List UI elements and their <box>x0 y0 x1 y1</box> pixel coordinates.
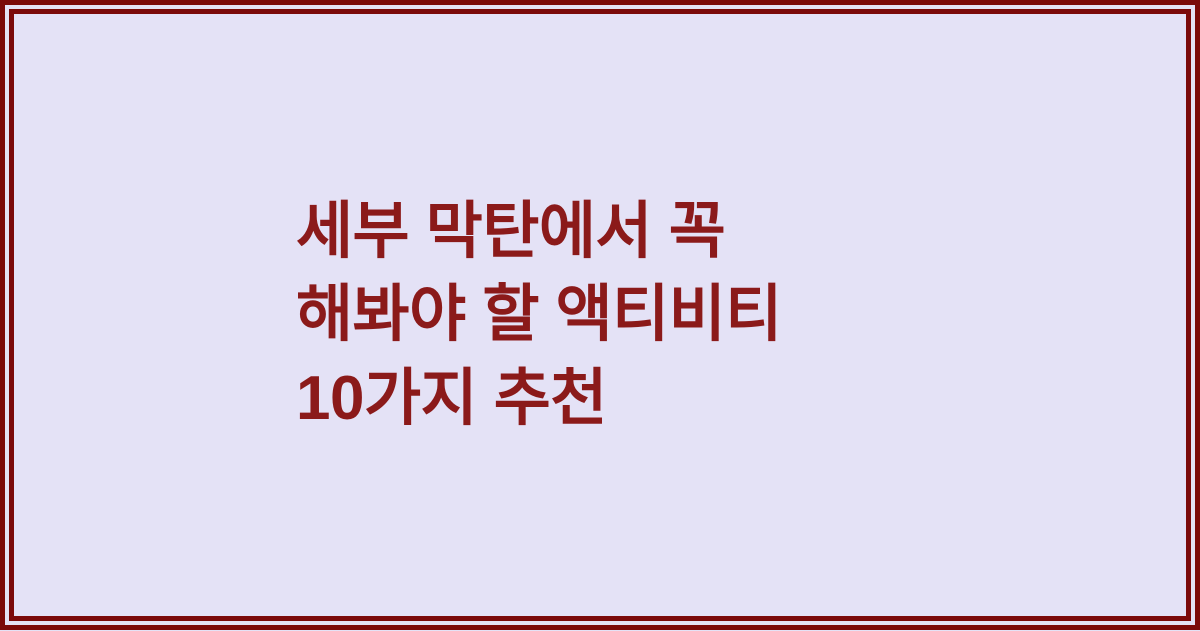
card-inner-frame: 세부 막탄에서 꼭 해봐야 할 액티비티 10가지 추천 <box>9 9 1191 621</box>
thumbnail-card: 세부 막탄에서 꼭 해봐야 할 액티비티 10가지 추천 <box>0 0 1200 630</box>
page-title: 세부 막탄에서 꼭 해봐야 할 액티비티 10가지 추천 <box>296 190 1186 439</box>
title-block: 세부 막탄에서 꼭 해봐야 할 액티비티 10가지 추천 <box>14 190 1186 439</box>
